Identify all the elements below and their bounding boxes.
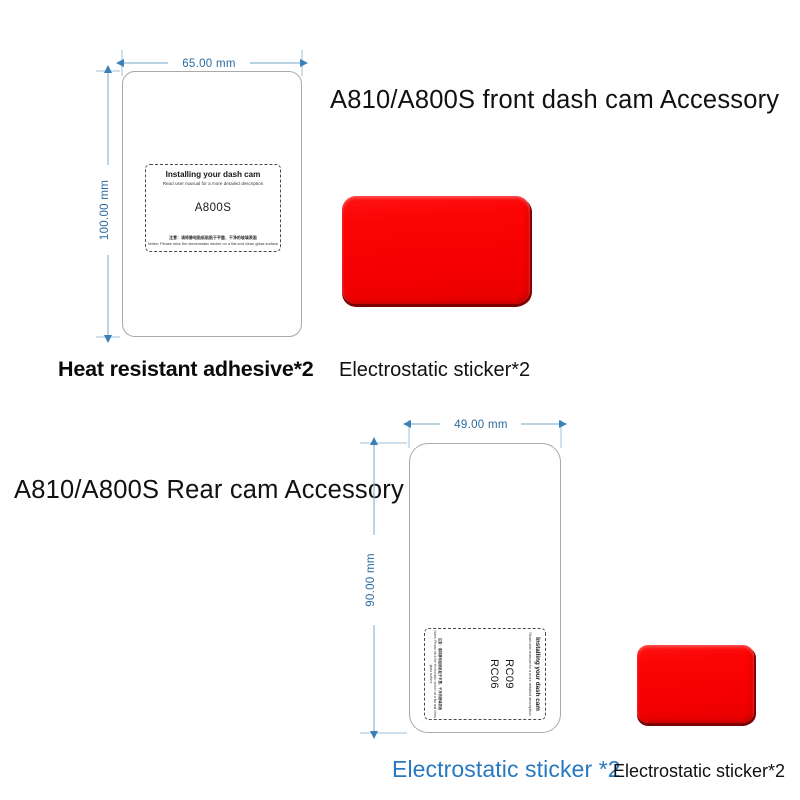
electrostatic-sticker-rear (637, 645, 754, 723)
rear-inner-label-note-cn: 注意：请将静电贴纸粘贴于平整、干净的玻璃表面 (438, 629, 442, 719)
rear-inner-label-wrapper: Installing your dash cam Read user manua… (424, 628, 546, 720)
rear-sticker-card-caption: Electrostatic sticker *2 (392, 756, 621, 783)
inner-label-footer: 注意：请将静电贴纸粘贴于平整、干净的玻璃表面 Notes: Please sti… (146, 236, 280, 247)
rear-width-label: 49.00 mm (454, 419, 508, 431)
front-height-label: 100.00 mm (99, 180, 111, 240)
inner-label-heading: Installing your dash cam (150, 170, 276, 179)
rear-inner-label-model-2: RC06 (486, 632, 501, 716)
electrostatic-sticker-front (342, 196, 530, 304)
heat-resistant-adhesive-caption: Heat resistant adhesive*2 (58, 357, 314, 382)
inner-label-model: A800S (150, 202, 276, 214)
product-accessory-diagram: A810/A800S front dash cam Accessory Inst… (0, 0, 800, 800)
rear-inner-label-subheading: Read user manual for a more detailed des… (527, 632, 532, 716)
rear-height-label: 90.00 mm (365, 553, 377, 607)
rear-accessory-title: A810/A800S Rear cam Accessory (14, 476, 404, 505)
front-width-label: 65.00 mm (182, 58, 236, 70)
rear-inner-label: Installing your dash cam Read user manua… (424, 628, 546, 720)
inner-label-subheading: Read user manual for a more detailed des… (150, 181, 276, 187)
rear-inner-label-models: RC09 RC06 (486, 632, 516, 716)
front-accessory-title: A810/A800S front dash cam Accessory (330, 86, 779, 115)
rear-inner-label-model-1: RC09 (501, 632, 516, 716)
inner-label-note-en: Notes: Please stick the electrostatic st… (146, 242, 280, 247)
adhesive-inner-label: Installing your dash cam Read user manua… (145, 164, 281, 252)
rear-inner-label-note-en: Notes: Please stick the electrostatic st… (429, 629, 437, 719)
rear-inner-label-heading: Installing your dash cam (534, 632, 541, 716)
rear-inner-label-footer: 注意：请将静电贴纸粘贴于平整、干净的玻璃表面 Notes: Please sti… (429, 629, 442, 719)
electrostatic-sticker-rear-caption: Electrostatic sticker*2 (613, 761, 785, 782)
electrostatic-sticker-front-caption: Electrostatic sticker*2 (339, 359, 530, 382)
front-height-dimension: 100.00 mm (96, 71, 120, 337)
